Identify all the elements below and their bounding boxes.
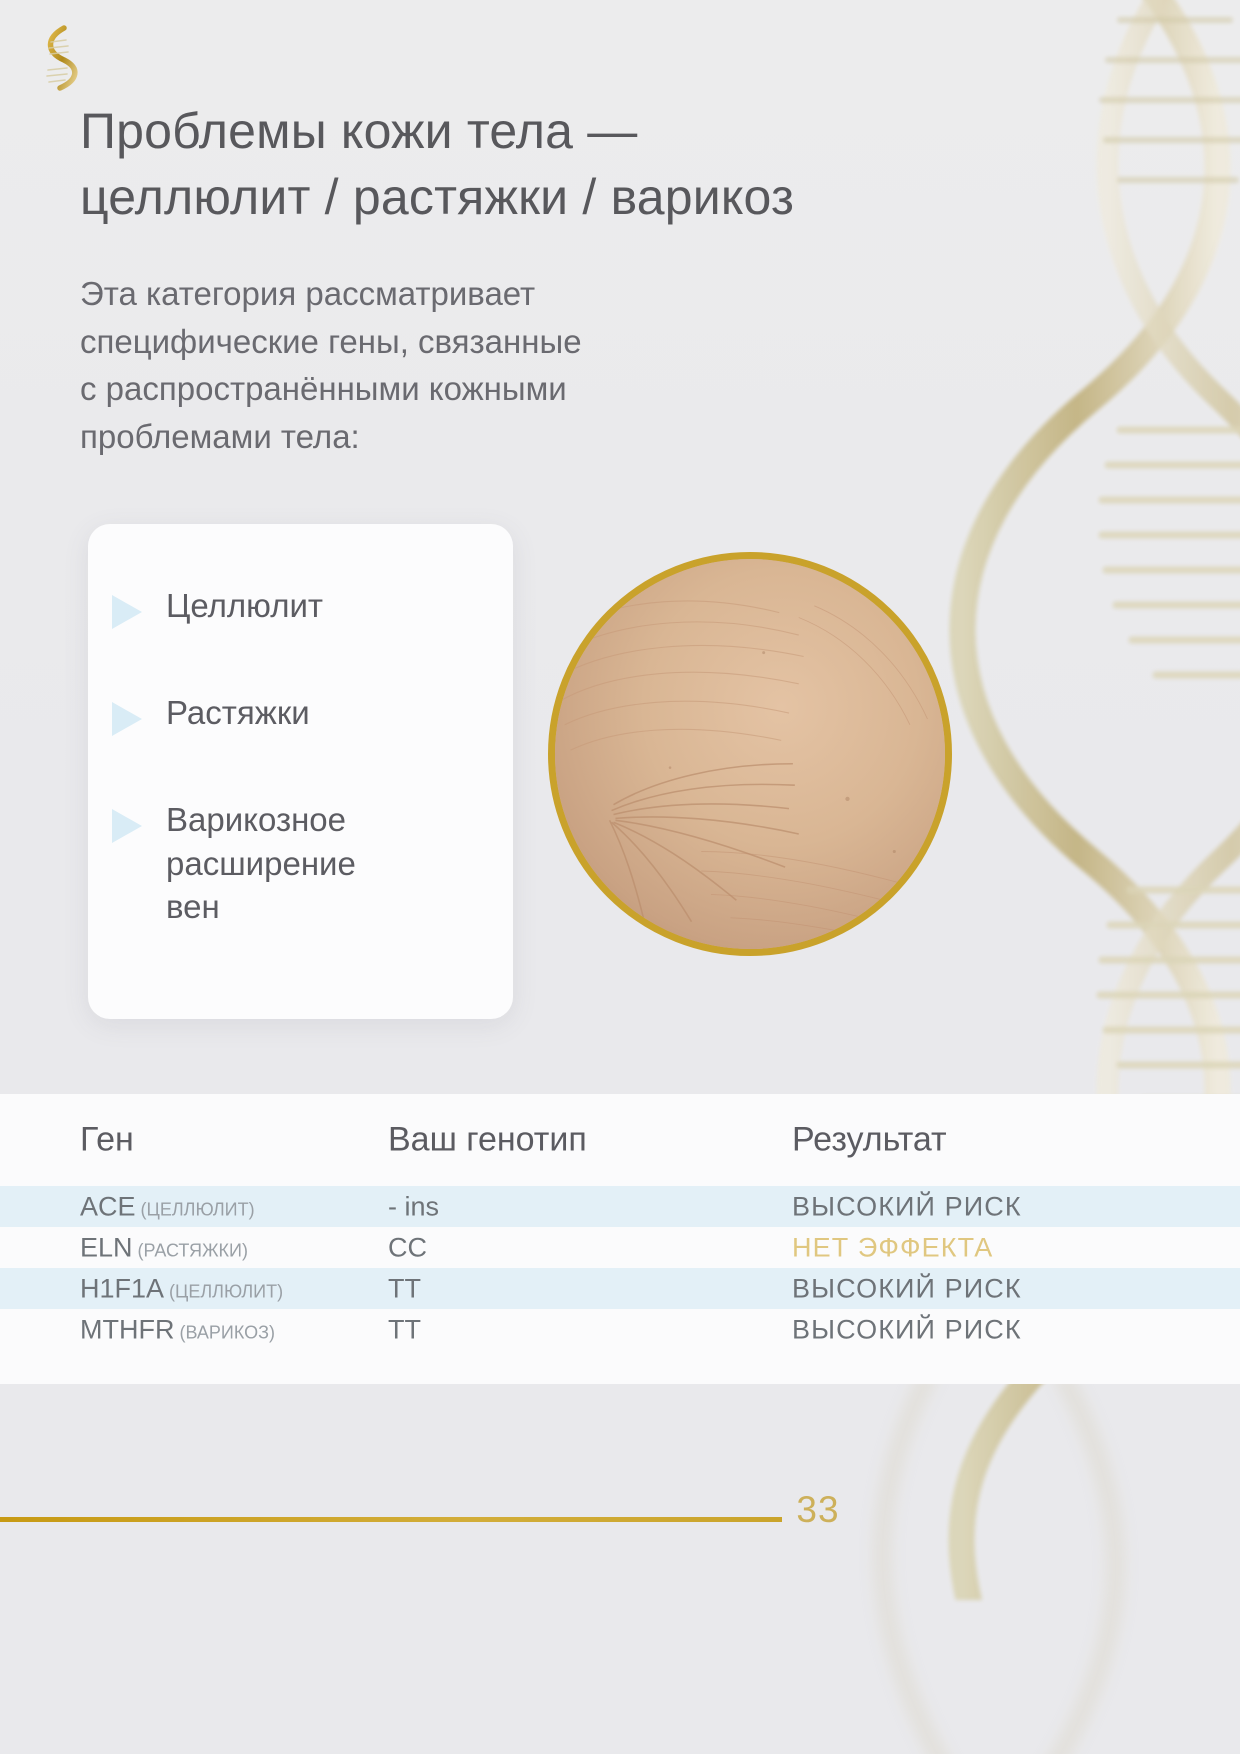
cell-result: ВЫСОКИЙ РИСК [792, 1273, 1022, 1304]
table-row: H1F1A(ЦЕЛЛЮЛИТ) TT ВЫСОКИЙ РИСК [0, 1268, 1240, 1309]
triangle-right-icon [112, 702, 142, 736]
cell-genotype: TT [388, 1273, 421, 1304]
table-bottom-spacer [0, 1350, 1240, 1384]
gene-note: (ЦЕЛЛЮЛИТ) [141, 1199, 255, 1219]
conditions-card: Целлюлит Растяжки Варикозное расширение … [88, 524, 513, 1019]
conditions-list: Целлюлит Растяжки Варикозное расширение … [112, 584, 497, 929]
footer-divider [0, 1517, 782, 1522]
slide-page: Проблемы кожи тела — целлюлит / растяжки… [0, 0, 1240, 1754]
table-row: ELN(РАСТЯЖКИ) CC НЕТ ЭФФЕКТА [0, 1227, 1240, 1268]
page-number: 33 [738, 1489, 898, 1531]
genotype-table: Ген Ваш генотип Результат ACE(ЦЕЛЛЮЛИТ) … [0, 1094, 1240, 1384]
list-item-label: Целлюлит [166, 584, 323, 628]
column-header-gene: Ген [80, 1121, 134, 1160]
page-title: Проблемы кожи тела — целлюлит / растяжки… [80, 98, 980, 230]
table-row: MTHFR(ВАРИКОЗ) TT ВЫСОКИЙ РИСК [0, 1309, 1240, 1350]
gene-note: (РАСТЯЖКИ) [138, 1240, 248, 1260]
list-item: Целлюлит [112, 584, 497, 629]
gene-symbol: ELN [80, 1232, 133, 1262]
list-item: Варикозное расширение вен [112, 798, 497, 929]
cell-genotype: CC [388, 1232, 427, 1263]
brand-logo [34, 22, 80, 94]
list-item-label: Варикозное расширение вен [166, 798, 356, 929]
table-header-row: Ген Ваш генотип Результат [0, 1094, 1240, 1186]
table-row: ACE(ЦЕЛЛЮЛИТ) - ins ВЫСОКИЙ РИСК [0, 1186, 1240, 1227]
gene-note: (ЦЕЛЛЮЛИТ) [169, 1281, 283, 1301]
intro-paragraph: Эта категория рассматривает специфически… [80, 270, 800, 460]
gene-symbol: ACE [80, 1191, 136, 1221]
cell-genotype: TT [388, 1314, 421, 1345]
cell-result: ВЫСОКИЙ РИСК [792, 1191, 1022, 1222]
gene-note: (ВАРИКОЗ) [179, 1322, 275, 1342]
list-item: Растяжки [112, 691, 497, 736]
cell-gene: MTHFR(ВАРИКОЗ) [80, 1314, 275, 1345]
triangle-right-icon [112, 809, 142, 843]
cell-result: НЕТ ЭФФЕКТА [792, 1232, 993, 1263]
gene-symbol: MTHFR [80, 1314, 174, 1344]
cell-gene: H1F1A(ЦЕЛЛЮЛИТ) [80, 1273, 283, 1304]
cell-result: ВЫСОКИЙ РИСК [792, 1314, 1022, 1345]
cell-genotype: - ins [388, 1191, 439, 1222]
cell-gene: ACE(ЦЕЛЛЮЛИТ) [80, 1191, 255, 1222]
gene-symbol: H1F1A [80, 1273, 164, 1303]
cell-gene: ELN(РАСТЯЖКИ) [80, 1232, 248, 1263]
triangle-right-icon [112, 595, 142, 629]
dna-helix-lower-decoration [820, 1374, 1180, 1754]
skin-photo-circle [548, 552, 952, 956]
list-item-label: Растяжки [166, 691, 310, 735]
column-header-genotype: Ваш генотип [388, 1121, 587, 1160]
skin-stretch-marks-photo [555, 559, 945, 949]
column-header-result: Результат [792, 1121, 947, 1160]
